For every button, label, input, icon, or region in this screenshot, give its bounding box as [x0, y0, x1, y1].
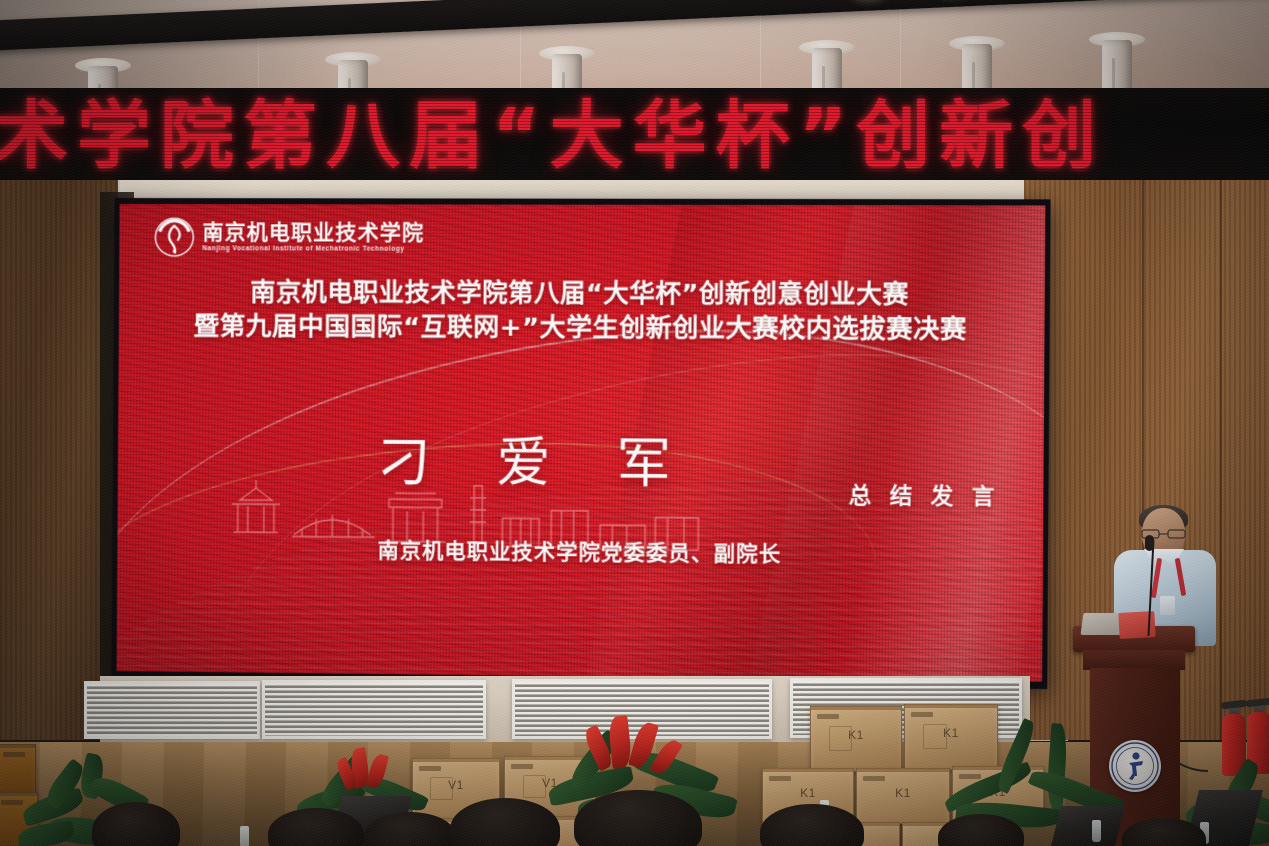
box-label: V1 — [448, 778, 464, 792]
screen-speaker-position: 南京机电职业技术学院党委委员、副院长 — [377, 534, 781, 568]
screen-title-line1: 南京机电职业技术学院第八届“大华杯”创新创意创业大赛 — [119, 274, 1045, 313]
box-label: K1 — [800, 786, 816, 800]
box-label: K1 — [848, 728, 864, 742]
logo-en-text: Nanjing Vocational Institute of Mechatro… — [202, 244, 424, 255]
screen-school-logo: 南京机电职业技术学院 Nanjing Vocational Institute … — [153, 216, 424, 259]
water-bottle — [1092, 820, 1101, 842]
school-crest-icon — [153, 216, 195, 258]
air-vent-grille — [84, 681, 260, 739]
logo-cn-text: 南京机电职业技术学院 — [202, 220, 424, 245]
overhead-led-banner: 术学院第八届“大华杯”创新创 — [0, 88, 1269, 184]
screen-speaker-name: 刁 爱 军 — [377, 420, 696, 499]
screen-title-line2: 暨第九届中国国际“互联网+”大学生创新创业大赛校内选拔赛决赛 — [119, 309, 1045, 348]
screen-title-block: 南京机电职业技术学院第八届“大华杯”创新创意创业大赛 暨第九届中国国际“互联网+… — [119, 274, 1045, 348]
product-box-k1: K1 — [810, 706, 902, 772]
badge — [1160, 596, 1175, 615]
microphone-icon — [1145, 535, 1154, 551]
led-banner-text: 术学院第八届“大华杯”创新创 — [0, 93, 1105, 179]
auditorium-scene: 术学院第八届“大华杯”创新创 — [0, 0, 1269, 846]
air-vent-grille — [262, 680, 486, 739]
box-label: K1 — [943, 726, 959, 740]
stage-monitor-speaker — [1051, 806, 1125, 846]
box-label: K1 — [895, 786, 911, 800]
led-screen: 南京机电职业技术学院 Nanjing Vocational Institute … — [111, 198, 1050, 689]
screen-speech-label: 总 结 发 言 — [849, 477, 1000, 511]
water-bottle — [240, 826, 249, 846]
